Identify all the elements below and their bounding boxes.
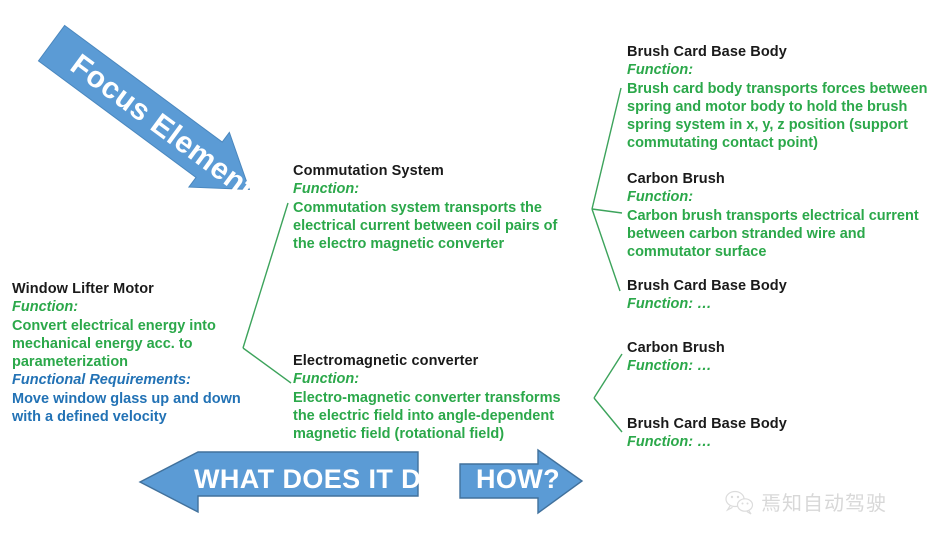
watermark-text: 焉知自动驾驶: [761, 487, 887, 516]
function-text: Convert electrical energy into mechanica…: [12, 317, 244, 372]
function-label: Function:: [627, 61, 939, 79]
function-label: Function:: [293, 370, 583, 388]
block-title: Brush Card Base Body: [627, 277, 927, 295]
focus-element-arrow: Focus Element: [48, 8, 308, 198]
function-text: Commutation system transports the electr…: [293, 199, 581, 254]
function-label: Function: …: [627, 433, 927, 451]
block-title: Brush Card Base Body: [627, 43, 939, 61]
block-title: Electromagnetic converter: [293, 352, 583, 370]
block-title: Commutation System: [293, 162, 581, 180]
connector-commutation-to-level3: [592, 88, 622, 291]
block-brush-card-base-body-1: Brush Card Base Body Function: Brush car…: [627, 43, 939, 153]
block-brush-card-base-body-2: Brush Card Base Body Function: …: [627, 277, 927, 314]
how-arrow: HOW?: [458, 448, 584, 516]
block-electromagnetic-converter: Electromagnetic converter Function: Elec…: [293, 352, 583, 443]
block-window-lifter-motor: Window Lifter Motor Function: Convert el…: [12, 280, 244, 426]
connector-converter-to-level3: [594, 354, 622, 432]
diagram-canvas: Focus Element Window Lifter Motor Functi…: [0, 0, 940, 536]
block-title: Brush Card Base Body: [627, 415, 927, 433]
block-title: Window Lifter Motor: [12, 280, 244, 298]
function-text: Brush card body transports forces betwee…: [627, 80, 939, 153]
function-label: Function: …: [627, 295, 927, 313]
block-title: Carbon Brush: [627, 170, 927, 188]
function-label: Function:: [12, 298, 244, 316]
requirements-text: Move window glass up and down with a def…: [12, 390, 244, 427]
watermark: 焉知自动驾驶: [724, 487, 887, 516]
block-brush-card-base-body-3: Brush Card Base Body Function: …: [627, 415, 927, 452]
what-does-it-do-arrow: WHAT DOES IT DO: [138, 450, 420, 514]
block-carbon-brush-2: Carbon Brush Function: …: [627, 339, 927, 376]
block-title: Carbon Brush: [627, 339, 927, 357]
connector-level1-to-level2: [243, 203, 291, 383]
function-text: Electro-magnetic converter transforms th…: [293, 389, 583, 444]
function-label: Function:: [627, 188, 927, 206]
function-label: Function:: [293, 180, 581, 198]
wechat-icon: [724, 489, 754, 515]
function-label: Function: …: [627, 357, 927, 375]
requirements-label: Functional Requirements:: [12, 371, 244, 389]
block-carbon-brush-1: Carbon Brush Function: Carbon brush tran…: [627, 170, 927, 261]
block-commutation-system: Commutation System Function: Commutation…: [293, 162, 581, 253]
function-text: Carbon brush transports electrical curre…: [627, 207, 927, 262]
